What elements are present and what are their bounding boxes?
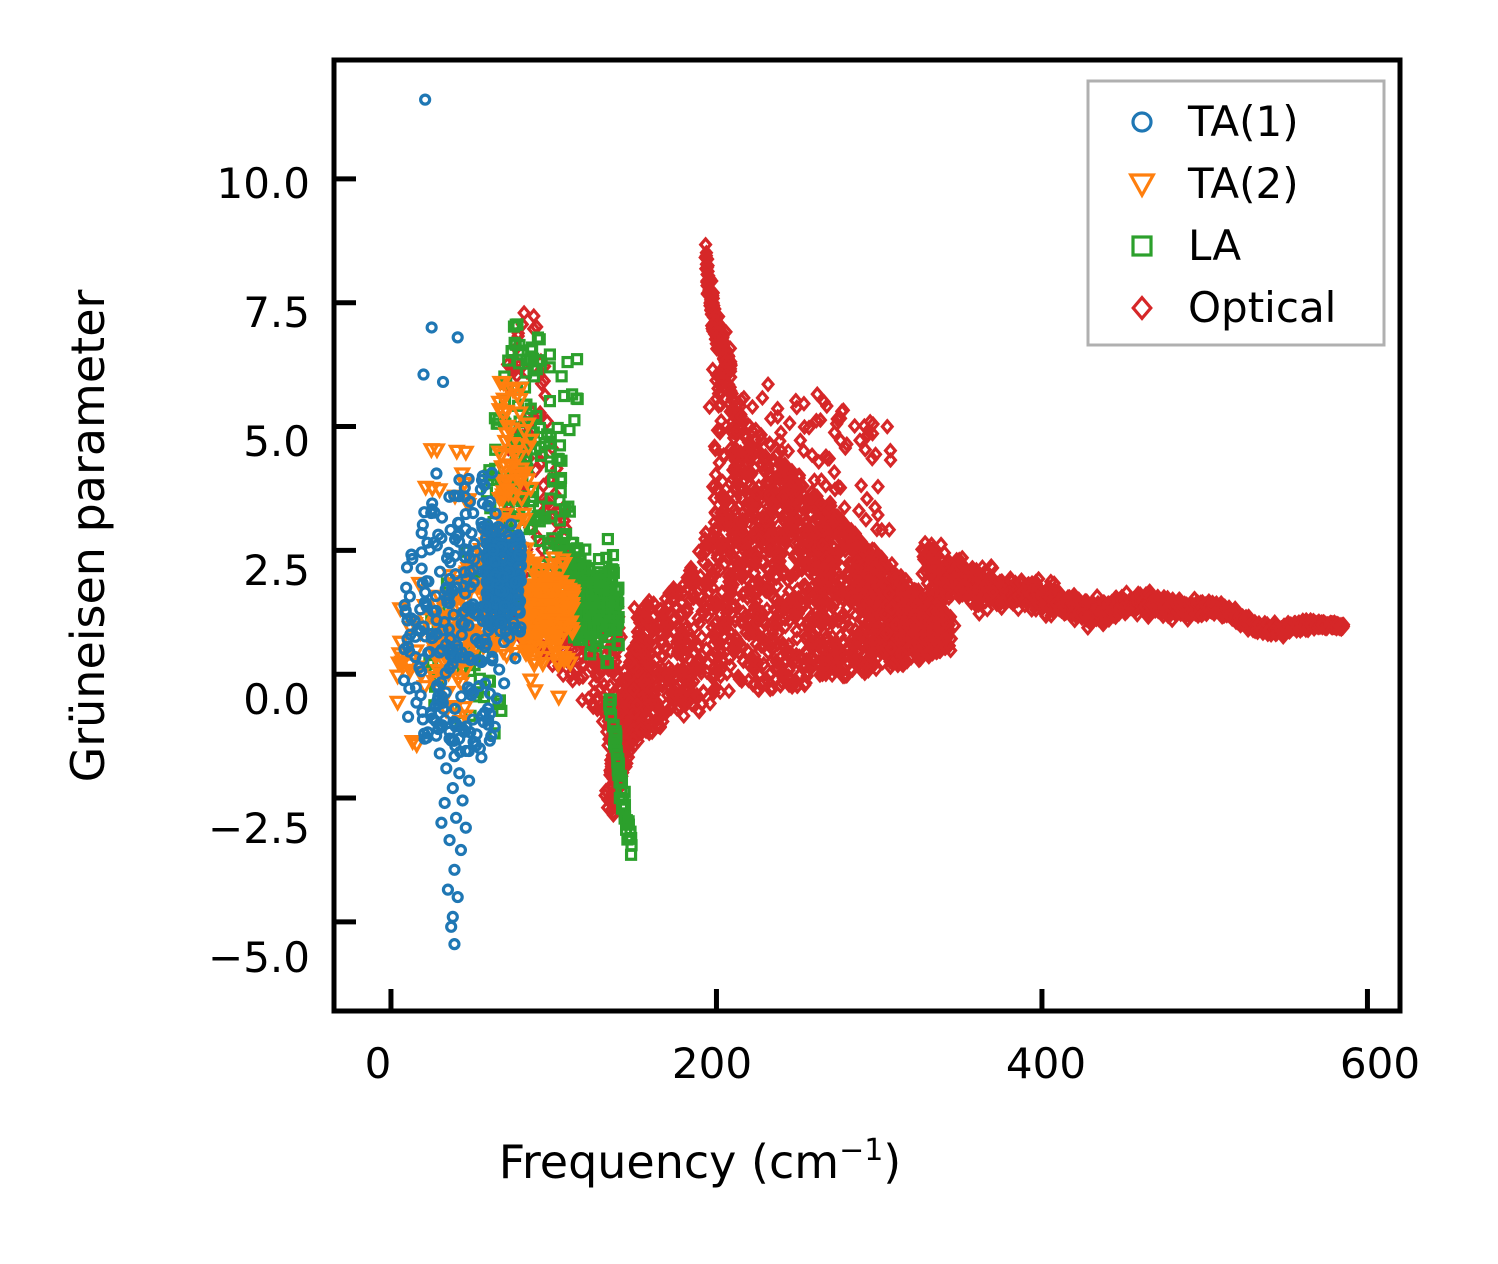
- gruneisen-scatter-plot: 0 200 400 600 10.0 7.5 5.0 2.5 0.0 −2.5 …: [0, 0, 1498, 1264]
- figure-canvas: 0 200 400 600 10.0 7.5 5.0 2.5 0.0 −2.5 …: [0, 0, 1498, 1264]
